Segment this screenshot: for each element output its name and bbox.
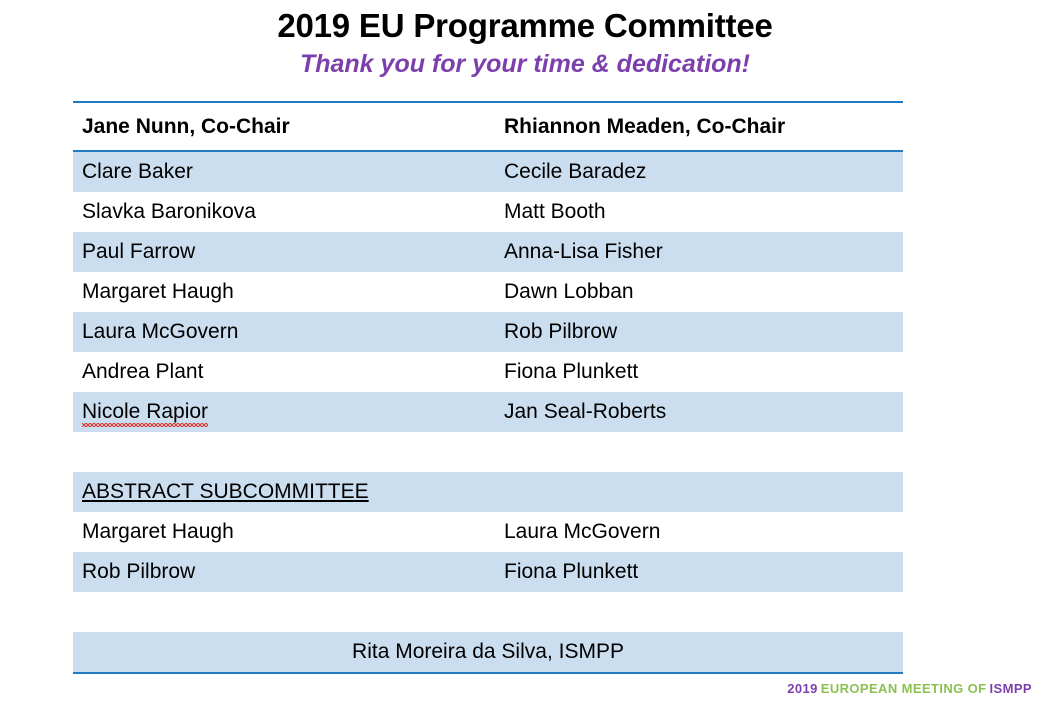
column-header-right: Rhiannon Meaden, Co-Chair	[495, 102, 903, 151]
section-header-cell-empty	[495, 472, 903, 512]
table-header-row: Jane Nunn, Co-Chair Rhiannon Meaden, Co-…	[73, 102, 903, 151]
member-name: Margaret Haugh	[73, 272, 495, 312]
member-name: Anna-Lisa Fisher	[495, 232, 903, 272]
member-name: Cecile Baradez	[495, 151, 903, 192]
spacer-cell	[495, 592, 903, 632]
brand-org: ISMPP	[990, 681, 1032, 696]
table-row: Slavka Baronikova Matt Booth	[73, 192, 903, 232]
member-name: Rob Pilbrow	[495, 312, 903, 352]
table-row: Margaret Haugh Dawn Lobban	[73, 272, 903, 312]
staff-name: Rita Moreira da Silva, ISMPP	[73, 632, 903, 673]
member-name: Laura McGovern	[73, 312, 495, 352]
member-name: Fiona Plunkett	[495, 352, 903, 392]
member-name: Nicole Rapior	[73, 392, 495, 432]
page-subtitle: Thank you for your time & dedication!	[0, 48, 1050, 80]
spacer-cell	[73, 592, 495, 632]
brand-meeting-text: EUROPEAN MEETING OF	[821, 681, 987, 696]
member-name: Jan Seal-Roberts	[495, 392, 903, 432]
table-row: Paul Farrow Anna-Lisa Fisher	[73, 232, 903, 272]
table-row: Nicole Rapior Jan Seal-Roberts	[73, 392, 903, 432]
page-title: 2019 EU Programme Committee	[0, 6, 1050, 46]
table-row: Clare Baker Cecile Baradez	[73, 151, 903, 192]
member-name: Andrea Plant	[73, 352, 495, 392]
staff-row: Rita Moreira da Silva, ISMPP	[73, 632, 903, 673]
table-row: Laura McGovern Rob Pilbrow	[73, 312, 903, 352]
misspelled-word: Nicole Rapior	[82, 400, 208, 425]
spacer-row	[73, 432, 903, 472]
brand-year: 2019	[787, 681, 818, 696]
slide: 2019 EU Programme Committee Thank you fo…	[0, 0, 1050, 708]
spacer-cell	[73, 432, 495, 472]
brand-footer: 2019EUROPEAN MEETING OFISMPP	[787, 681, 1032, 696]
member-name: Dawn Lobban	[495, 272, 903, 312]
column-header-left: Jane Nunn, Co-Chair	[73, 102, 495, 151]
section-header-cell: ABSTRACT SUBCOMMITTEE	[73, 472, 495, 512]
member-name: Paul Farrow	[73, 232, 495, 272]
table-row: Andrea Plant Fiona Plunkett	[73, 352, 903, 392]
member-name: Slavka Baronikova	[73, 192, 495, 232]
table-row: Margaret Haugh Laura McGovern	[73, 512, 903, 552]
section-header-row: ABSTRACT SUBCOMMITTEE	[73, 472, 903, 512]
member-name: Laura McGovern	[495, 512, 903, 552]
committee-table-wrap: Jane Nunn, Co-Chair Rhiannon Meaden, Co-…	[73, 101, 903, 674]
abstract-subcommittee-label: ABSTRACT SUBCOMMITTEE	[82, 480, 369, 503]
member-name: Margaret Haugh	[73, 512, 495, 552]
member-name: Matt Booth	[495, 192, 903, 232]
member-name: Rob Pilbrow	[73, 552, 495, 592]
member-name: Clare Baker	[73, 151, 495, 192]
table-row: Rob Pilbrow Fiona Plunkett	[73, 552, 903, 592]
committee-table: Jane Nunn, Co-Chair Rhiannon Meaden, Co-…	[73, 101, 903, 674]
spacer-cell	[495, 432, 903, 472]
title-block: 2019 EU Programme Committee Thank you fo…	[0, 0, 1050, 80]
member-name: Fiona Plunkett	[495, 552, 903, 592]
spacer-row	[73, 592, 903, 632]
